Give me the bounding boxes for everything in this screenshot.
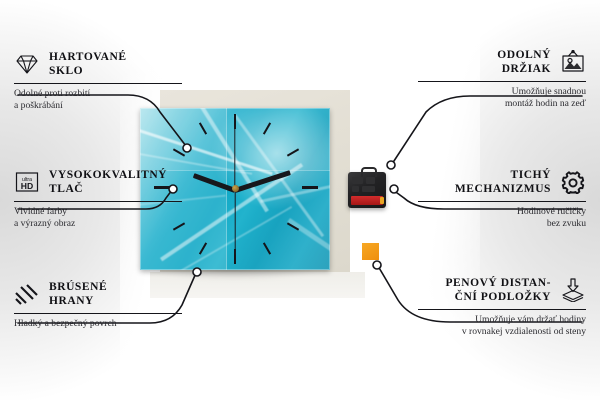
mechanism-battery xyxy=(351,196,383,205)
feature-description: Umožňuje vám držať hodiny v rovnakej vzd… xyxy=(418,314,586,340)
gear-icon xyxy=(560,170,586,194)
feature-ground-edges[interactable]: BRÚSENÉ HRANY Hladký a bezpečný povrch xyxy=(14,280,182,330)
wall-hanger-icon xyxy=(560,50,586,74)
foam-spacer-icon xyxy=(560,278,586,302)
feature-description: Umožňuje snadnou montáž hodin na zeď xyxy=(418,86,586,112)
foam-spacer-pad xyxy=(362,243,379,260)
feature-description: Hladký a bezpečný povrch xyxy=(14,318,182,331)
diamond-icon xyxy=(14,52,40,76)
feature-title: VYSOKOKVALITNÝ TLAČ xyxy=(49,168,167,197)
battery-positive-terminal xyxy=(380,197,384,204)
feature-divider xyxy=(14,83,182,84)
feature-description: Hodinové ručičky bez zvuku xyxy=(418,206,586,232)
mechanism-detail xyxy=(362,186,375,192)
feature-header: BRÚSENÉ HRANY xyxy=(14,280,182,309)
feature-divider xyxy=(418,309,586,310)
feature-divider xyxy=(418,81,586,82)
feature-title: ODOLNÝ DRŽIAK xyxy=(497,48,551,77)
feature-title: TICHÝ MECHANIZMUS xyxy=(455,168,551,197)
feature-header: ultra HD VYSOKOKVALITNÝ TLAČ xyxy=(14,168,182,197)
infographic-root: HARTOVANÉ SKLO Odolné proti rozbití a po… xyxy=(0,0,600,400)
feature-divider xyxy=(14,313,182,314)
feature-title: BRÚSENÉ HRANY xyxy=(49,280,107,309)
ground-edges-icon xyxy=(14,282,40,306)
ultra-hd-icon: ultra HD xyxy=(14,170,40,194)
feature-header: TICHÝ MECHANIZMUS xyxy=(418,168,586,197)
feature-header: HARTOVANÉ SKLO xyxy=(14,50,182,79)
feature-header: PENOVÝ DISTAN- ČNÍ PODLOŽKY xyxy=(418,276,586,305)
feature-divider xyxy=(14,201,182,202)
feature-title: PENOVÝ DISTAN- ČNÍ PODLOŽKY xyxy=(445,276,551,305)
feature-title: HARTOVANÉ SKLO xyxy=(49,50,127,79)
clock-mechanism xyxy=(348,172,386,208)
mechanism-detail xyxy=(352,177,363,184)
mechanism-detail xyxy=(366,177,375,184)
feature-durable-hanger[interactable]: ODOLNÝ DRŽIAK Umožňuje snadnou montáž ho… xyxy=(418,48,586,111)
feature-tempered-glass[interactable]: HARTOVANÉ SKLO Odolné proti rozbití a po… xyxy=(14,50,182,113)
feature-high-quality-print[interactable]: ultra HD VYSOKOKVALITNÝ TLAČ Vividné far… xyxy=(14,168,182,231)
feature-silent-mechanism[interactable]: TICHÝ MECHANIZMUS Hodinové ručičky bez z… xyxy=(418,168,586,231)
feature-description: Vividné farby a výrazný obraz xyxy=(14,206,182,232)
feature-divider xyxy=(418,201,586,202)
feature-header: ODOLNÝ DRŽIAK xyxy=(418,48,586,77)
svg-text:HD: HD xyxy=(21,181,33,191)
mechanism-detail xyxy=(352,186,359,192)
mechanism-hanger xyxy=(361,167,377,177)
feature-foam-spacers[interactable]: PENOVÝ DISTAN- ČNÍ PODLOŽKY Umožňuje vám… xyxy=(418,276,586,339)
feature-description: Odolné proti rozbití a poškrábání xyxy=(14,88,182,114)
